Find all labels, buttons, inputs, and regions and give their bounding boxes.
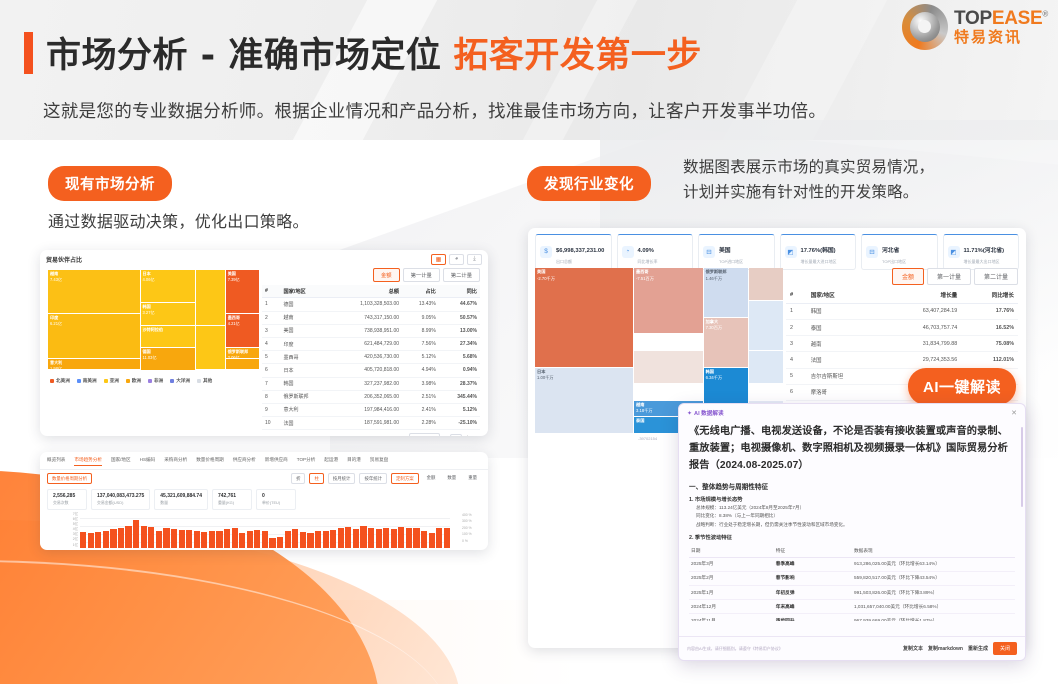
nav-tab[interactable]: 概览列表 xyxy=(47,457,65,466)
treemap-cell[interactable]: 加拿大 7.30百万 xyxy=(704,318,748,367)
treemap-cell-value: 4.06亿 xyxy=(143,277,155,283)
treemap-cell[interactable]: 日本 4.06亿 xyxy=(141,270,195,302)
table-pagination[interactable]: 共 213 条 10条/页 ‹ 1 / 22 › xyxy=(262,433,480,436)
table-row[interactable]: 4法国29,724,353.56112.01% xyxy=(786,352,1018,368)
table-row[interactable]: 8俄罗斯联邦206,352,065.002.51%345.44% xyxy=(262,390,480,403)
cell-rank: 1 xyxy=(262,298,281,311)
bar xyxy=(398,527,404,548)
cell-date: 2025年2月 xyxy=(689,571,774,585)
cell-yoy: 5.68% xyxy=(439,351,480,364)
kpi-card-label: 增长量最大进口地区 xyxy=(801,259,837,265)
bar xyxy=(103,531,109,549)
ai-bullet: 总体规模：113.24亿美元（2024年8月至2025年7月） xyxy=(689,505,1015,511)
toolbar-chip-group[interactable]: 折柱按月统计按年统计定制方案金额数量重量 xyxy=(291,473,481,484)
right-section-pill: 发现行业变化 xyxy=(527,166,651,201)
nav-tab[interactable]: 目的港 xyxy=(347,457,361,466)
table-row[interactable]: 5墨西哥420,536,730.005.12%5.68% xyxy=(262,351,480,364)
chart-icon: ◩ xyxy=(785,246,797,258)
treemap-cell-label: 日本 xyxy=(537,369,545,375)
kpi-card[interactable]: ⊟美国TOP进口地区 xyxy=(698,234,775,270)
kpi-card-value: 17.76%(韩国) xyxy=(801,248,836,254)
cell-feature: 春节影响 xyxy=(774,571,852,585)
nav-tab-bar[interactable]: 概览列表市场趋势分析国家/地区HS编码采购商分析数量价格周期供应商分析新增供应商… xyxy=(40,452,488,470)
treemap-cell[interactable]: 日本 1.00千万 xyxy=(535,368,633,433)
cell-country: 美国 xyxy=(281,324,331,337)
brand-logo: TOPEASE® 特易资讯 xyxy=(902,4,1048,50)
cell-date: 2025年1月 xyxy=(689,585,774,599)
bar xyxy=(353,529,359,548)
legend-item[interactable]: 北美洲 xyxy=(50,378,70,384)
treemap-cell-value: 6.34千万 xyxy=(706,375,723,381)
kpi-card-value: 河北省 xyxy=(882,248,899,254)
cell-rank: 1 xyxy=(786,303,807,319)
bar xyxy=(345,527,351,548)
kpi-item: 137,040,083,473.275交易金额(USD) xyxy=(91,489,150,510)
kpi-label: 重量(KG) xyxy=(218,500,246,506)
kpi-card-label: 同比增长率 xyxy=(638,259,658,265)
right-desc-line2: 计划并实施有针对性的开发策略。 xyxy=(683,180,934,205)
treemap-cell-label: 韩国 xyxy=(706,369,714,375)
cell-share: 2.41% xyxy=(402,403,439,416)
cell-country: 日本 xyxy=(281,364,331,377)
treemap-cell[interactable]: 墨西哥 -7.51百万 xyxy=(634,268,703,333)
cell-yoy-growth: 112.01% xyxy=(961,352,1018,368)
table-row[interactable]: 9意大利197,984,416.002.41%5.12% xyxy=(262,403,480,416)
treemap-legend: 北美洲 南美洲 亚洲 欧洲 非洲 大洋洲 其他 xyxy=(50,378,212,384)
col-yoy-growth: 同比增长 xyxy=(961,288,1018,303)
nav-tab[interactable]: 供应商分析 xyxy=(233,457,256,466)
nav-tab[interactable]: TOP分析 xyxy=(297,457,316,466)
kpi-card[interactable]: ◩11.71%(河北省)增长量最大出口地区 xyxy=(943,234,1020,270)
trade-partner-table: 金额 第一计量 第二计量 # 国家/地区 总额 占比 同比 1德国1,103,3… xyxy=(262,268,480,436)
ai-subsection-title: 1. 市场规模与增长态势 xyxy=(689,495,1015,503)
right-section-intro: 发现行业变化 xyxy=(527,166,651,201)
bar xyxy=(171,529,177,548)
ai-analysis-panel[interactable]: ✦ AI 数据解读 ✕ 《无线电广播、电视发送设备，不论是否装有接收装置或声音的… xyxy=(678,403,1026,661)
cell-yoy: 50.57% xyxy=(439,311,480,324)
tab-second-measure[interactable]: 第二计量 xyxy=(443,268,480,282)
cell-country: 韩国 xyxy=(281,377,331,390)
ai-bullet: 同比变化：8.38%（与上一年同期相比） xyxy=(689,513,1015,519)
pie-icon[interactable]: ◕ xyxy=(449,254,464,265)
cell-total: 743,317,150.00 xyxy=(330,311,402,324)
table-row[interactable]: 1韩国63,407,284.1917.76% xyxy=(786,303,1018,319)
cell-share: 7.56% xyxy=(402,337,439,350)
legend-label: 北美洲 xyxy=(56,378,70,384)
bar xyxy=(163,528,169,548)
bar xyxy=(80,532,86,548)
legend-item[interactable]: 南美洲 xyxy=(77,378,97,384)
toolbar-chip[interactable]: 按年统计 xyxy=(359,473,387,484)
toolbar-chip[interactable]: 折 xyxy=(291,473,305,484)
scrollbar-thumb[interactable] xyxy=(1021,427,1024,507)
bar xyxy=(368,528,374,548)
treemap-cell-label: 美国 xyxy=(537,269,545,275)
treemap-cell[interactable]: 沙特阿拉伯 xyxy=(141,326,195,347)
cell-feature: 年末高峰 xyxy=(774,600,852,614)
kpi-card[interactable]: ◩17.76%(韩国)增长量最大进口地区 xyxy=(780,234,857,270)
flag-icon: ⊟ xyxy=(703,246,715,258)
title-accent-text: 拓客开发第一步 xyxy=(453,27,702,78)
kpi-card-label: 增长量最大出口地区 xyxy=(964,259,1005,265)
bar xyxy=(247,531,253,548)
cell-total: 206,352,065.00 xyxy=(330,390,402,403)
bar xyxy=(186,530,192,548)
table-row: 2025年2月春节影响559,820,517.00美元（环比下降43.54%） xyxy=(689,571,1015,585)
dashboard-screenshot-trade-partners[interactable]: 贸易伙伴占比 ▦ ◕ ⤓ 越南 7.43亿 日本 4.06亿 美国 7.39亿 … xyxy=(40,250,488,436)
legend-label: 欧洲 xyxy=(132,378,141,384)
treemap-cell-value: 2.06亿 xyxy=(228,355,240,358)
cell-growth: 63,407,284.19 xyxy=(882,303,961,319)
treemap-cell-small[interactable] xyxy=(749,351,783,383)
logo-top-orange: EASE xyxy=(992,8,1043,29)
y-tick: 0 % xyxy=(462,538,476,544)
treemap-cell-value: 6.21亿 xyxy=(50,321,62,327)
table-row: 2025年3月春季高峰913,286,025.00美元（环比增长63.14%） xyxy=(689,557,1015,571)
cell-country[interactable]: 韩国 xyxy=(807,303,882,319)
cell-total: 197,984,416.00 xyxy=(330,403,402,416)
cell-yoy-growth: 16.52% xyxy=(961,319,1018,335)
ai-action-group[interactable]: 复制文本 复制markdown 重新生成 关闭 xyxy=(903,642,1017,655)
cell-rank: 9 xyxy=(262,403,281,416)
cell-share: 4.94% xyxy=(402,364,439,377)
kpi-card[interactable]: ⊟河北省TOP出口地区 xyxy=(861,234,938,270)
treemap-cell[interactable]: 美国 -2.70千万 xyxy=(535,268,633,367)
cell-total: 327,237,982.00 xyxy=(330,377,402,390)
copy-markdown-button[interactable]: 复制markdown xyxy=(928,645,963,652)
col-data: 数据表现 xyxy=(852,545,1015,558)
kpi-value: 742,761 xyxy=(218,493,246,499)
cell-total: 621,484,729.00 xyxy=(330,337,402,350)
bar xyxy=(88,533,94,548)
bar xyxy=(383,528,389,548)
cell-country: 摩洛哥 xyxy=(807,384,882,400)
bar xyxy=(444,528,450,548)
cell-share: 9.05% xyxy=(402,311,439,324)
treemap-cell-small[interactable] xyxy=(226,359,259,369)
bar xyxy=(429,533,435,548)
dashboard-screenshot-quantity-price[interactable]: 概览列表市场趋势分析国家/地区HS编码采购商分析数量价格周期供应商分析新增供应商… xyxy=(40,452,488,550)
treemap-cell-small[interactable] xyxy=(196,326,225,369)
bar xyxy=(338,528,344,548)
cell-data: 559,820,517.00美元（环比下降43.54%） xyxy=(852,571,1015,585)
cell-rank: 6 xyxy=(786,384,807,400)
treemap-cell-value: 4.21亿 xyxy=(228,321,240,327)
treemap-axis-value: -39702154 xyxy=(638,436,657,441)
cell-share: 2.51% xyxy=(402,390,439,403)
cell-country[interactable]: 越南 xyxy=(807,336,882,352)
cell-data: 1,031,657,040.00美元（环比增长6.58%） xyxy=(852,600,1015,614)
nav-tab[interactable]: 市场趋势分析 xyxy=(74,457,102,466)
treemap-cell-small[interactable] xyxy=(634,351,703,383)
cell-growth: 29,724,353.56 xyxy=(882,352,961,368)
ai-disclaimer: 内容由AI生成，请仔细甄别。请遵守《特易用户协议》 xyxy=(687,646,783,652)
close-icon[interactable]: ✕ xyxy=(1011,409,1017,417)
treemap-cell-value: 7.39亿 xyxy=(228,277,240,283)
treemap-cell-value: 7.30百万 xyxy=(706,325,723,331)
bar xyxy=(307,533,313,548)
toolbar-row[interactable]: 数量价格周期分析 折柱按月统计按年统计定制方案金额数量重量 xyxy=(40,470,488,487)
treemap-cell-value: -7.51百万 xyxy=(636,276,654,282)
kpi-card-label: 出口总额 xyxy=(556,259,604,265)
legend-label: 其他 xyxy=(203,378,212,384)
legend-item[interactable]: 大洋洲 xyxy=(170,378,190,384)
cell-yoy-growth: 17.76% xyxy=(961,303,1018,319)
ai-panel-body: 《无线电广播、电视发送设备，不论是否装有接收装置或声音的录制、重放装置；电视摄像… xyxy=(679,419,1025,621)
tab-first-measure[interactable]: 第一计量 xyxy=(927,268,971,285)
toolbar-chip[interactable]: 重量 xyxy=(464,473,481,484)
logo-top-dark: TOP xyxy=(954,8,992,29)
table-row[interactable]: 2泰国46,703,757.7416.52% xyxy=(786,319,1018,335)
title-accent-bar xyxy=(24,32,33,74)
table-row[interactable]: 3美国738,938,951.008.99%13.00% xyxy=(262,324,480,337)
kpi-item: 2,556,285交易次数 xyxy=(47,489,87,510)
cell-feature: 逐步回升 xyxy=(774,614,852,621)
bar xyxy=(269,538,275,548)
col-rank: # xyxy=(786,288,807,303)
bar xyxy=(141,526,147,548)
nav-tab[interactable]: 新增供应商 xyxy=(265,457,288,466)
chart-icon: ◩ xyxy=(948,246,960,258)
bar xyxy=(148,527,154,548)
treemap-cell[interactable]: 德国 11.03亿 xyxy=(141,348,195,370)
nav-tab[interactable]: 数量价格周期 xyxy=(196,457,224,466)
nav-tab[interactable]: 采购商分析 xyxy=(164,457,187,466)
treemap-cell-label: 墨西哥 xyxy=(636,269,649,275)
kpi-card[interactable]: $$6,998,337,231.00出口总额 xyxy=(535,234,612,270)
treemap-cell-value: 11.03亿 xyxy=(143,355,157,361)
kpi-label: 数量 xyxy=(160,500,202,506)
toolbar-chip[interactable]: 金额 xyxy=(423,473,440,484)
flag-icon: ⊟ xyxy=(866,246,878,258)
kpi-label: 交易次数 xyxy=(53,500,81,506)
nav-tab[interactable]: 国家/地区 xyxy=(111,457,131,466)
cell-date: 2024年11月 xyxy=(689,614,774,621)
bar xyxy=(224,529,230,548)
tab-amount[interactable]: 金额 xyxy=(892,268,924,285)
table-row: 2025年1月年初反弹991,503,826.00美元（环比下降3.89%） xyxy=(689,585,1015,599)
cell-yoy: 0.94% xyxy=(439,364,480,377)
kpi-card-label: TOP进口地区 xyxy=(719,259,743,265)
nav-tab[interactable]: 起运港 xyxy=(324,457,338,466)
treemap-cell[interactable]: 墨西哥 4.21亿 xyxy=(226,314,259,346)
right-section-desc: 数据图表展示市场的真实贸易情况， 计划并实施有针对性的开发策略。 xyxy=(683,155,934,205)
kpi-card[interactable]: ◔4.09%同比增长率 xyxy=(617,234,694,270)
grid-icon[interactable]: ▦ xyxy=(431,254,446,265)
treemap-cell-value: -2.70千万 xyxy=(537,276,555,282)
cell-growth: 46,703,757.74 xyxy=(882,319,961,335)
kpi-value: 2,556,285 xyxy=(53,493,81,499)
cell-total: 1,103,328,503.00 xyxy=(330,298,402,311)
cell-rank: 4 xyxy=(262,337,281,350)
tab-second-measure[interactable]: 第二计量 xyxy=(974,268,1018,285)
page-header: 市场分析 - 准确市场定位 拓客开发第一步 这就是您的专业数据分析师。根据企业情… xyxy=(0,0,1058,140)
treemap-cell-label: 加拿大 xyxy=(706,319,719,325)
bar xyxy=(406,528,412,548)
bar xyxy=(110,529,116,548)
kpi-item: 45,321,609,884.74数量 xyxy=(154,489,208,510)
measure-tab-group[interactable]: 金额 第一计量 第二计量 xyxy=(262,268,480,282)
bar xyxy=(330,530,336,548)
cell-data: 991,503,826.00美元（环比下降3.89%） xyxy=(852,585,1015,599)
cell-country: 法国 xyxy=(807,352,882,368)
shot-a-header: 贸易伙伴占比 ▦ ◕ ⤓ xyxy=(40,250,488,268)
kpi-card-value: 11.71%(河北省) xyxy=(964,248,1005,254)
legend-item[interactable]: 非洲 xyxy=(148,378,163,384)
ai-interpret-button[interactable]: AI一键解读 xyxy=(908,368,1016,405)
logo-bottom-text: 特易资讯 xyxy=(954,30,1048,45)
bar xyxy=(156,531,162,549)
y-axis-right-labels: 400 %300 %200 %100 %0 % xyxy=(462,512,476,544)
cell-rank: 3 xyxy=(262,324,281,337)
cell-share: 13.43% xyxy=(402,298,439,311)
bar xyxy=(118,528,124,548)
bar xyxy=(179,530,185,548)
legend-label: 非洲 xyxy=(154,378,163,384)
page-subtitle: 这就是您的专业数据分析师。根据企业情况和产品分析，找准最佳市场方向，让客户开发事… xyxy=(43,98,826,123)
cell-country: 吉尔吉斯斯坦 xyxy=(807,368,882,384)
nav-tab[interactable]: 贸易复盘 xyxy=(370,457,388,466)
cell-country: 法国 xyxy=(281,417,331,430)
ai-panel-header: ✦ AI 数据解读 ✕ xyxy=(679,404,1025,419)
cell-yoy: -25.10% xyxy=(439,417,480,430)
bar xyxy=(232,528,238,548)
treemap-cell-small[interactable] xyxy=(196,270,225,325)
kpi-card-label: TOP出口地区 xyxy=(882,259,906,265)
cell-yoy: 5.12% xyxy=(439,403,480,416)
left-section-intro: 现有市场分析 xyxy=(48,166,172,201)
col-growth: 增长量 xyxy=(882,288,961,303)
treemap-cell-value: 1.00千万 xyxy=(537,375,554,381)
cell-rank: 7 xyxy=(262,377,281,390)
cell-share: 2.28% xyxy=(402,417,439,430)
toolbar-chip[interactable]: 按月统计 xyxy=(328,473,356,484)
bar xyxy=(436,528,442,548)
legend-item[interactable]: 其他 xyxy=(197,378,212,384)
kpi-item: 742,761重量(KG) xyxy=(212,489,252,510)
col-country: 国家/地区 xyxy=(281,285,331,298)
bar xyxy=(209,531,215,548)
cell-country: 越南 xyxy=(281,311,331,324)
table-row[interactable]: 7韩国327,237,982.003.98%28.37% xyxy=(262,377,480,390)
cell-share: 5.12% xyxy=(402,351,439,364)
kpi-item: 0单价(TEU) xyxy=(256,489,296,510)
treemap-cell-label: 沙特阿拉伯 xyxy=(143,327,163,333)
cell-yoy: 27.34% xyxy=(439,337,480,350)
bar xyxy=(239,533,245,548)
cell-total: 738,938,951.00 xyxy=(330,324,402,337)
page-title: 市场分析 - 准确市场定位 拓客开发第一步 xyxy=(24,27,702,78)
bar xyxy=(262,531,268,549)
treemap-cell[interactable]: 韩国 3.27亿 xyxy=(141,303,195,324)
bar xyxy=(300,532,306,548)
measure-tab-group[interactable]: 金额 第一计量 第二计量 xyxy=(786,268,1018,285)
bar xyxy=(277,537,283,548)
cell-rank: 5 xyxy=(262,351,281,364)
bar xyxy=(413,528,419,548)
col-total: 总额 xyxy=(330,285,402,298)
toolbar-chip[interactable]: 数量 xyxy=(443,473,460,484)
clock-icon: ◔ xyxy=(622,246,634,258)
tab-amount[interactable]: 金额 xyxy=(373,268,400,282)
table-row[interactable]: 3越南31,834,799.8875.08% xyxy=(786,336,1018,352)
treemap-cell[interactable]: 印度 6.21亿 xyxy=(48,314,140,357)
cell-yoy: 13.00% xyxy=(439,324,480,337)
treemap-cell[interactable]: 俄罗斯联邦 2.06亿 xyxy=(226,348,259,358)
bar xyxy=(216,531,222,549)
table-row[interactable]: 10法国187,591,981.002.28%-25.10% xyxy=(262,417,480,430)
col-rank: # xyxy=(262,285,281,298)
cell-country: 印度 xyxy=(281,337,331,350)
nav-tab[interactable]: HS编码 xyxy=(140,457,156,466)
view-toggle-group[interactable]: ▦ ◕ ⤓ xyxy=(431,254,482,265)
treemap-cell[interactable]: 俄罗斯联邦 1.46千万 xyxy=(704,268,748,317)
cell-share: 3.98% xyxy=(402,377,439,390)
legend-item[interactable]: 欧洲 xyxy=(126,378,141,384)
bar xyxy=(254,530,260,548)
table-row[interactable]: 6日本405,720,818.004.94%0.94% xyxy=(262,364,480,377)
cell-country[interactable]: 泰国 xyxy=(807,319,882,335)
cell-yoy: 345.44% xyxy=(439,390,480,403)
cell-total: 187,591,981.00 xyxy=(330,417,402,430)
download-icon[interactable]: ⤓ xyxy=(467,254,482,265)
tab-first-measure[interactable]: 第一计量 xyxy=(403,268,440,282)
page-size-select[interactable]: 10条/页 xyxy=(409,433,440,436)
cell-rank: 4 xyxy=(786,352,807,368)
table-row[interactable]: 1德国1,103,328,503.0013.43%44.67% xyxy=(262,298,480,311)
bar xyxy=(421,531,427,549)
left-section-pill: 现有市场分析 xyxy=(48,166,172,201)
title-main-text: 市场分析 - 准确市场定位 xyxy=(46,27,441,78)
table-row[interactable]: 2越南743,317,150.009.05%50.57% xyxy=(262,311,480,324)
bar xyxy=(315,531,321,549)
treemap-cell[interactable]: 美国 7.39亿 xyxy=(226,270,259,313)
cell-yoy-growth: 75.08% xyxy=(961,336,1018,352)
toolbar-chip[interactable]: 柱 xyxy=(309,473,323,484)
treemap-title: 贸易伙伴占比 xyxy=(46,255,82,264)
cell-date: 2025年3月 xyxy=(689,557,774,571)
cell-rank: 2 xyxy=(786,319,807,335)
treemap-cell-label: 泰国 xyxy=(636,418,644,424)
close-button[interactable]: 关闭 xyxy=(993,642,1017,655)
total-count: 共 213 条 xyxy=(385,435,405,436)
toolbar-chip[interactable]: 定制方案 xyxy=(391,473,419,484)
treemap-cell-value: 1.46千万 xyxy=(706,276,723,282)
table-header-row: 日期 特征 数据表现 xyxy=(689,545,1015,558)
filter-chip[interactable]: 数量价格周期分析 xyxy=(47,473,92,484)
bar xyxy=(133,520,139,548)
cell-rank: 3 xyxy=(786,336,807,352)
table-row[interactable]: 4印度621,484,729.007.56%27.34% xyxy=(262,337,480,350)
regenerate-button[interactable]: 重新生成 xyxy=(968,645,988,652)
col-country: 国家/地区 xyxy=(807,288,882,303)
treemap-cell-small[interactable] xyxy=(749,268,783,300)
treemap-cell[interactable]: 越南 7.43亿 xyxy=(48,270,140,313)
current-page[interactable]: 1 xyxy=(450,434,463,436)
kpi-label: 单价(TEU) xyxy=(262,500,290,506)
cell-yoy: 28.37% xyxy=(439,377,480,390)
copy-text-button[interactable]: 复制文本 xyxy=(903,645,923,652)
treemap-cell[interactable]: 意大利 1.98亿 xyxy=(48,359,140,369)
cell-data: 967,939,669.00美元（环比增长1.87%） xyxy=(852,614,1015,621)
kpi-value: 137,040,083,473.275 xyxy=(97,493,144,499)
ai-bullet: 战略判断：行业处于稳定增长期，但仍需关注季节性波动和区域市场变化。 xyxy=(689,522,1015,528)
col-yoy: 同比 xyxy=(439,285,480,298)
legend-item[interactable]: 亚洲 xyxy=(104,378,119,384)
treemap-cell-small[interactable] xyxy=(749,301,783,350)
cell-feature: 春季高峰 xyxy=(774,557,852,571)
kpi-card-value: 4.09% xyxy=(638,248,654,254)
